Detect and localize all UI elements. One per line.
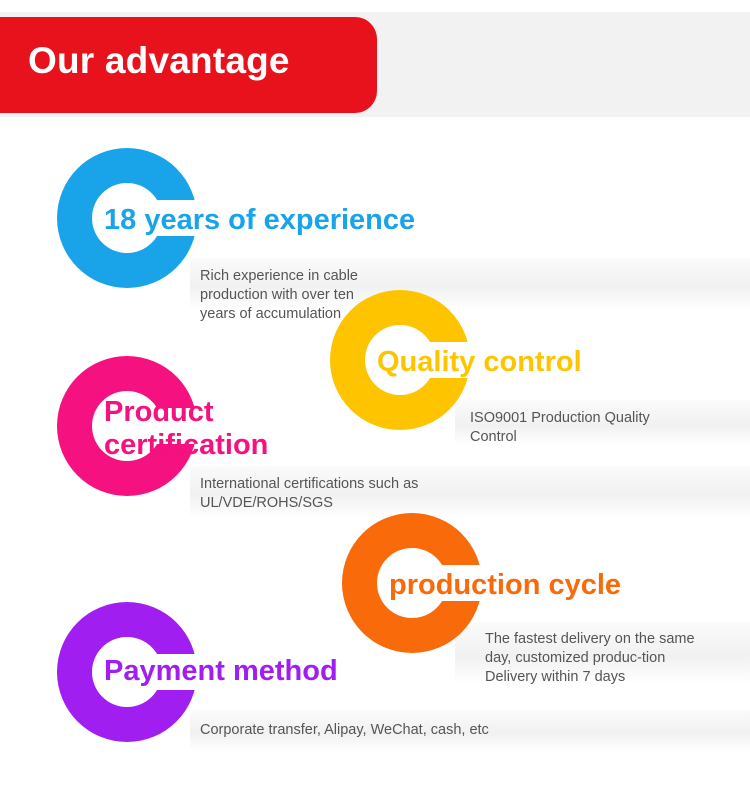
description-production-cycle: The fastest delivery on the same day, cu… — [485, 630, 700, 687]
headline-production-cycle: production cycle — [389, 569, 621, 602]
headline-payment-method: Payment method — [104, 655, 338, 688]
page-title: Our advantage — [28, 40, 290, 82]
description-product-certification: International certifications such as UL/… — [200, 475, 500, 513]
footer-spacer — [0, 785, 750, 797]
headline-product-certification: Product certification — [104, 396, 344, 463]
description-quality-control: ISO9001 Production Quality Control — [470, 409, 700, 447]
headline-quality-control: Quality control — [377, 346, 582, 379]
description-payment-method: Corporate transfer, Alipay, WeChat, cash… — [200, 721, 620, 740]
advantage-infographic: Our advantage 18 years of experience Ric… — [0, 0, 750, 797]
headline-experience: 18 years of experience — [104, 204, 415, 237]
